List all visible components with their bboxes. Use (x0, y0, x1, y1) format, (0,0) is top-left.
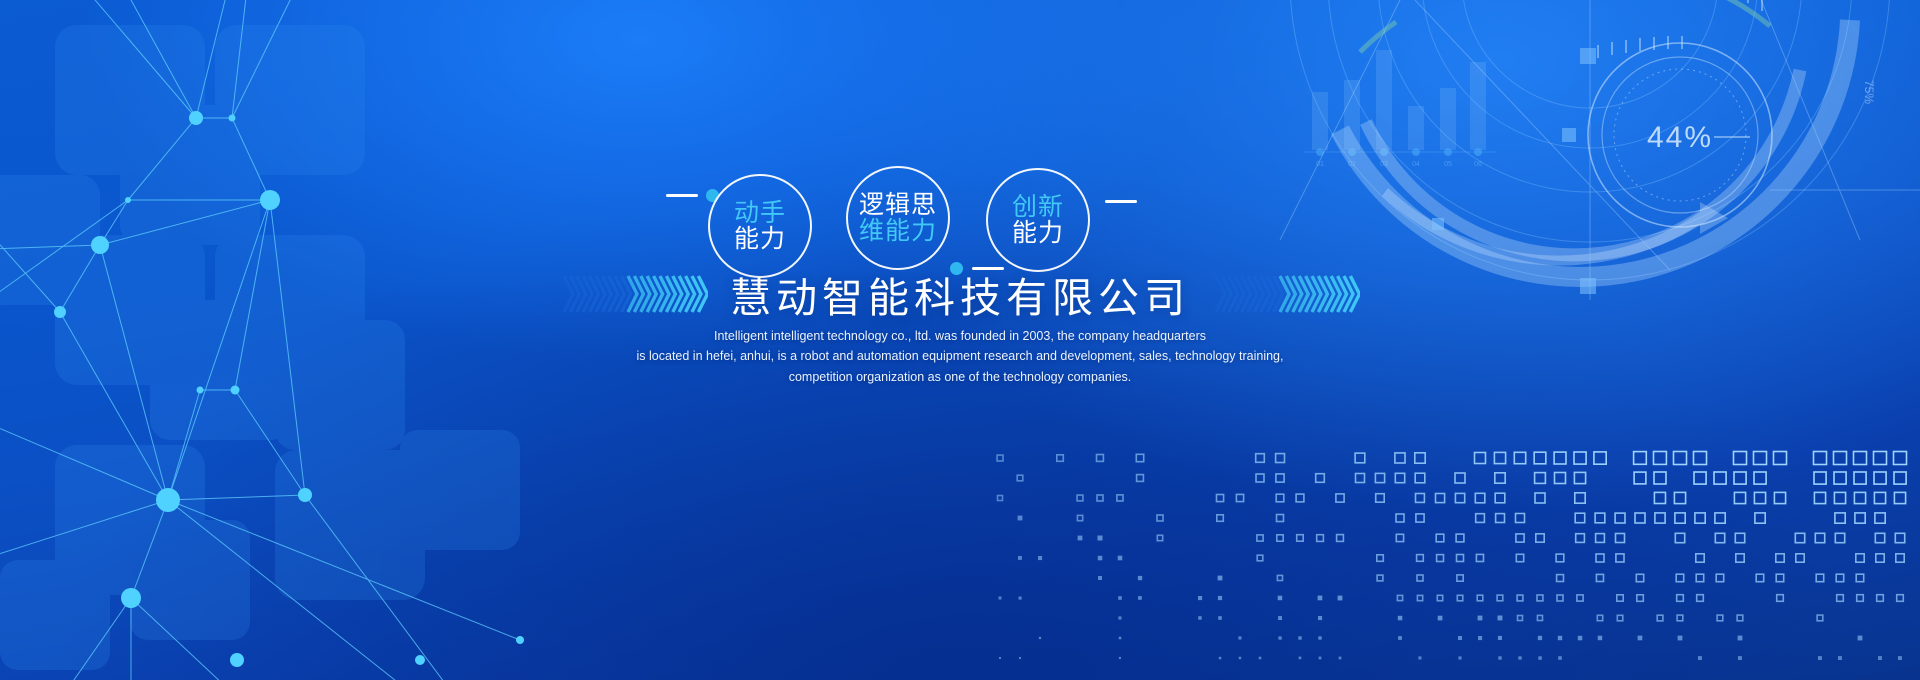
dot-matrix-graphic (980, 430, 1920, 680)
banner-center-content: 动手 能力 逻辑思 维能力 创新 能力 慧动智能科技有限公司 Intellige… (0, 0, 1920, 290)
chevrons-right-decoration (1212, 271, 1360, 317)
company-name-row: 慧动智能科技有限公司 (0, 264, 1920, 324)
description-line-1: Intelligent intelligent technology co., … (0, 326, 1920, 346)
capability-circle-logical-thinking[interactable]: 逻辑思 维能力 (846, 166, 950, 270)
company-description: Intelligent intelligent technology co., … (0, 326, 1920, 387)
description-line-2: is located in hefei, anhui, is a robot a… (0, 346, 1920, 366)
circle-2-line-2: 维能力 (859, 218, 937, 245)
banner-stage: 01 02 03 04 05 06 (0, 0, 1920, 680)
capability-circle-hands-on[interactable]: 动手 能力 (708, 174, 812, 278)
company-name: 慧动智能科技有限公司 (730, 264, 1190, 324)
circle-3-line-2: 能力 (1012, 220, 1064, 247)
circle-1-line-1: 动手 (734, 200, 786, 227)
circle-2-line-1: 逻辑思 (859, 192, 937, 219)
left-dash-decoration (666, 194, 698, 197)
capability-circle-innovation[interactable]: 创新 能力 (986, 168, 1090, 272)
right-dash-decoration (1105, 200, 1137, 203)
circle-1-line-2: 能力 (734, 226, 786, 253)
circle-3-line-1: 创新 (1012, 194, 1064, 221)
chevrons-left-decoration (560, 271, 708, 317)
description-line-3: competition organization as one of the t… (0, 367, 1920, 387)
